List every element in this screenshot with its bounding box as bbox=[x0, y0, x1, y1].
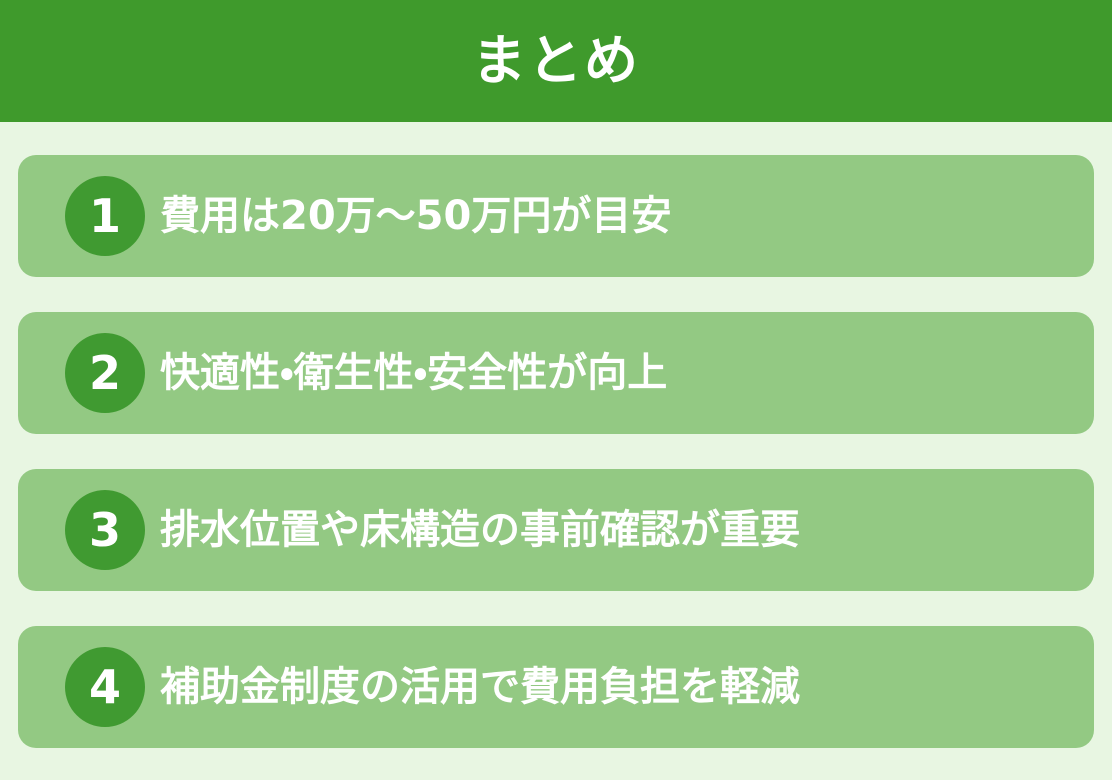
header-banner: まとめ bbox=[0, 0, 1112, 122]
page-title: まとめ bbox=[472, 34, 640, 88]
summary-infographic: まとめ 1 費用は20万〜50万円が目安 2 快適性・衛生性・安全性が向上 3 … bbox=[0, 0, 1112, 780]
summary-card-4: 4 補助金制度の活用で費用負担を軽減 bbox=[18, 626, 1094, 748]
number-badge-3: 3 bbox=[65, 490, 145, 570]
summary-card-label-3: 排水位置や床構造の事前確認が重要 bbox=[160, 507, 800, 553]
summary-card-label-2: 快適性・衛生性・安全性が向上 bbox=[160, 350, 667, 396]
summary-list: 1 費用は20万〜50万円が目安 2 快適性・衛生性・安全性が向上 3 排水位置… bbox=[0, 122, 1112, 780]
summary-card-3: 3 排水位置や床構造の事前確認が重要 bbox=[18, 469, 1094, 591]
summary-card-label-1: 費用は20万〜50万円が目安 bbox=[160, 193, 671, 239]
summary-card-2: 2 快適性・衛生性・安全性が向上 bbox=[18, 312, 1094, 434]
number-badge-2: 2 bbox=[65, 333, 145, 413]
summary-card-label-4: 補助金制度の活用で費用負担を軽減 bbox=[160, 664, 800, 710]
number-badge-1: 1 bbox=[65, 176, 145, 256]
number-badge-4: 4 bbox=[65, 647, 145, 727]
summary-card-1: 1 費用は20万〜50万円が目安 bbox=[18, 155, 1094, 277]
